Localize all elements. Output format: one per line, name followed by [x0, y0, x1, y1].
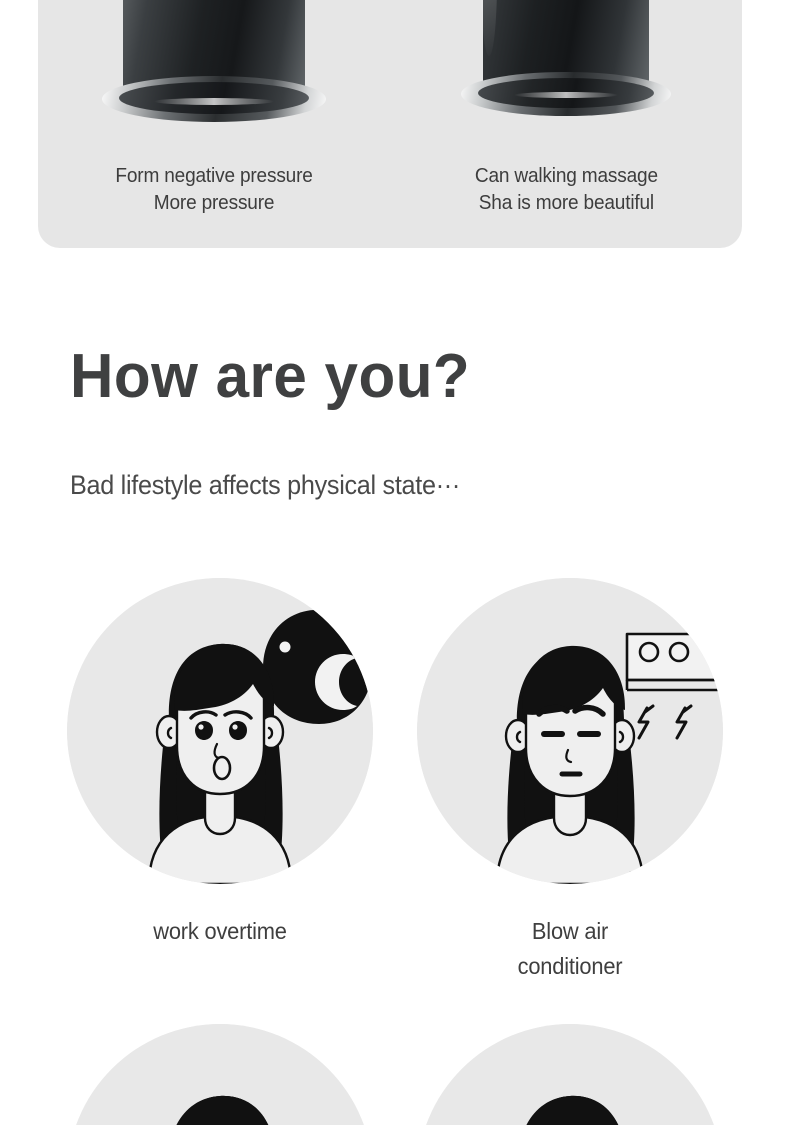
cup-stage-2 — [390, 0, 742, 132]
product-feature-cell-2: Can walking massage Sha is more beautifu… — [390, 0, 742, 248]
illustration-item-air-conditioner: Blow air conditioner — [417, 578, 723, 984]
illustration-item-row2-right — [417, 1024, 723, 1125]
illustration-row-1: work overtime — [0, 578, 790, 984]
illustration-caption-work-overtime: work overtime — [92, 914, 349, 949]
caption-line-1: Form negative pressure — [115, 162, 312, 189]
lifestyle-illustration-grid: work overtime — [0, 578, 790, 1125]
suction-cup-cylinder-icon — [459, 0, 673, 130]
woman-night-moon-illustration-icon — [67, 578, 373, 884]
section-subheadline: Bad lifestyle affects physical state··· — [70, 466, 460, 504]
caption-line-2: conditioner — [442, 949, 699, 984]
product-feature-caption-1: Form negative pressure More pressure — [115, 162, 312, 216]
caption-line-1: Blow air — [442, 914, 699, 949]
woman-air-conditioner-illustration-icon — [417, 578, 723, 884]
product-detail-page: Form negative pressure More pressure — [0, 0, 790, 1125]
section-headline: How are you? — [70, 336, 470, 418]
product-feature-cell-1: Form negative pressure More pressure — [38, 0, 390, 248]
illustration-row-2 — [0, 1024, 790, 1125]
woman-illustration-partial-left-icon — [67, 1024, 373, 1125]
caption-line-2: Sha is more beautiful — [475, 189, 658, 216]
woman-illustration-partial-right-icon — [417, 1024, 723, 1125]
suction-cup-flared-icon — [100, 0, 328, 130]
cup-stage-1 — [38, 0, 390, 132]
product-feature-caption-2: Can walking massage Sha is more beautifu… — [475, 162, 658, 216]
caption-line-1: work overtime — [92, 914, 349, 949]
product-feature-cells: Form negative pressure More pressure — [38, 0, 742, 248]
illustration-item-row2-left — [67, 1024, 373, 1125]
illustration-item-work-overtime: work overtime — [67, 578, 373, 984]
product-feature-panel: Form negative pressure More pressure — [38, 0, 742, 248]
caption-line-2: More pressure — [115, 189, 312, 216]
caption-line-1: Can walking massage — [475, 162, 658, 189]
illustration-caption-air-conditioner: Blow air conditioner — [442, 914, 699, 984]
